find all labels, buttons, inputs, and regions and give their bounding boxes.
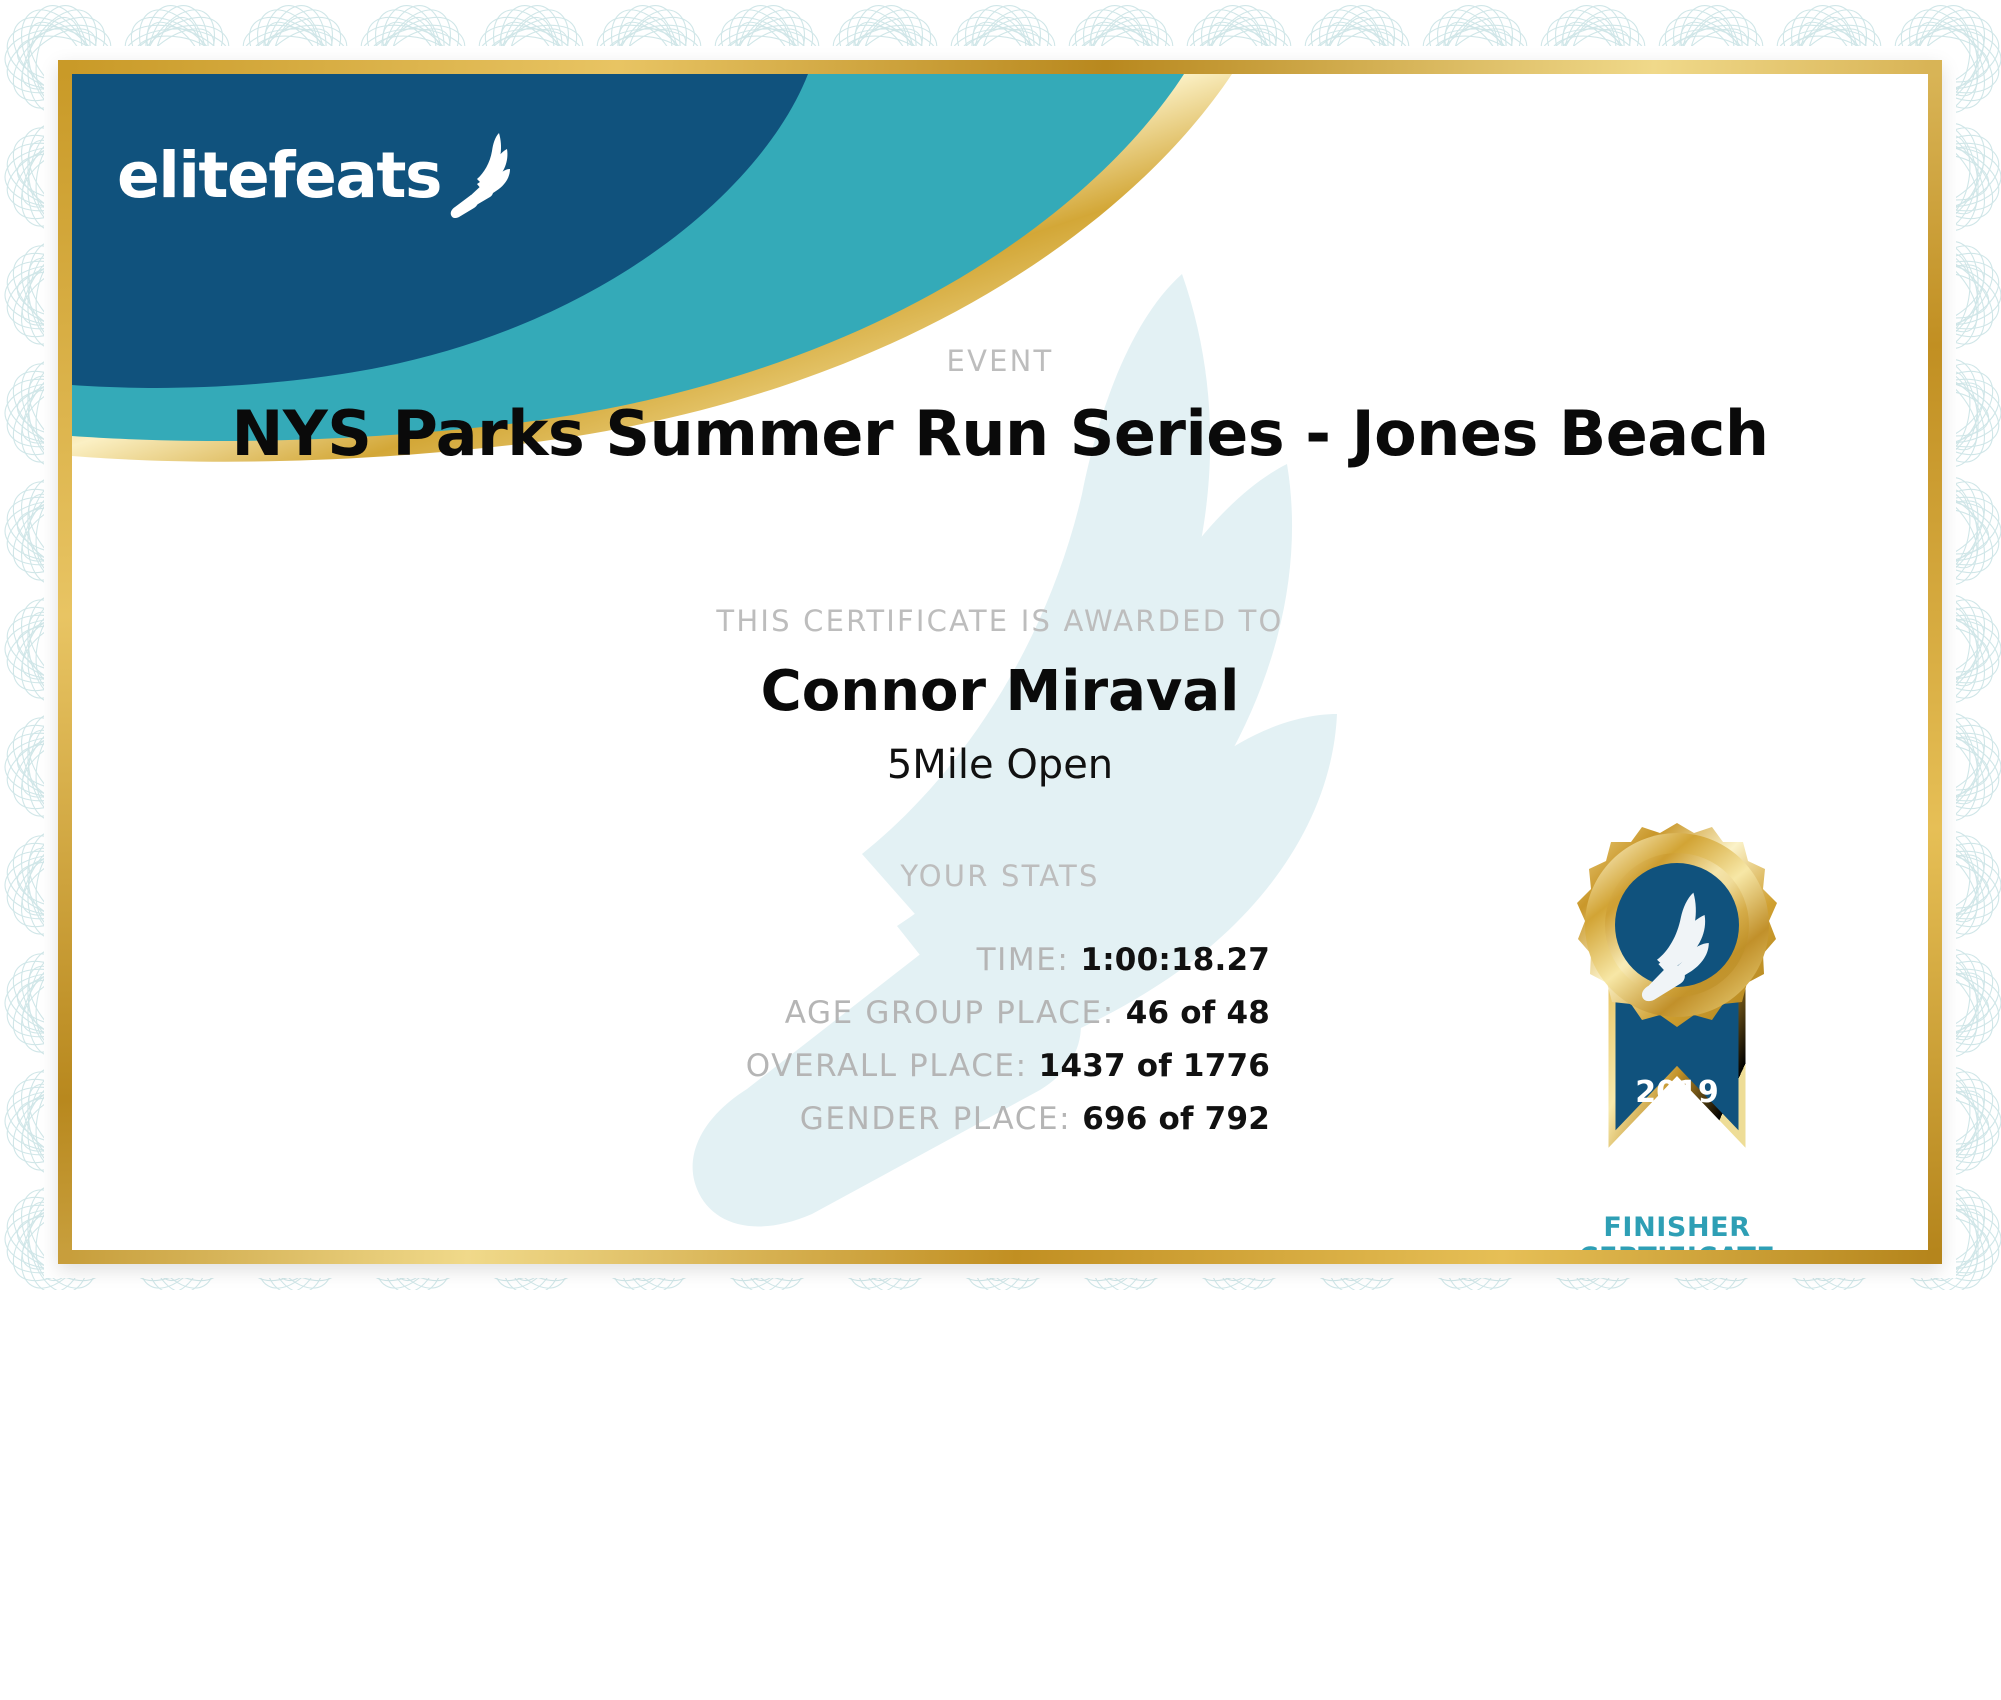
stat-row-gender-place: GENDER PLACE: 696 of 792 [72, 1101, 1270, 1137]
certificate-page: elitefeats EVENT N [0, 0, 2001, 1700]
recipient-name: Connor Miraval [72, 659, 1928, 724]
badge-caption-line1: FINISHER [1527, 1213, 1827, 1243]
stat-key: GENDER PLACE: [800, 1101, 1071, 1137]
stat-value: 1437 of 1776 [1039, 1048, 1270, 1084]
certificate-content: EVENT NYS Parks Summer Run Series - Jone… [72, 74, 1928, 1250]
stat-row-age-group-place: AGE GROUP PLACE: 46 of 48 [72, 995, 1270, 1031]
stat-row-overall-place: OVERALL PLACE: 1437 of 1776 [72, 1048, 1270, 1084]
stat-row-time: TIME: 1:00:18.27 [72, 942, 1270, 978]
event-title: NYS Parks Summer Run Series - Jones Beac… [72, 397, 1928, 470]
stat-key: AGE GROUP PLACE: [785, 995, 1115, 1031]
badge-caption: FINISHER CERTIFICATE [1527, 1213, 1827, 1264]
event-label: EVENT [72, 344, 1928, 378]
stat-value: 1:00:18.27 [1080, 942, 1270, 978]
division-name: 5Mile Open [72, 742, 1928, 788]
stats-list: TIME: 1:00:18.27 AGE GROUP PLACE: 46 of … [72, 942, 1270, 1154]
stat-key: OVERALL PLACE: [746, 1048, 1028, 1084]
awarded-to-label: THIS CERTIFICATE IS AWARDED TO [72, 604, 1928, 638]
badge-year: 2019 [1635, 1075, 1719, 1110]
certificate-gold-frame: elitefeats EVENT N [58, 60, 1942, 1264]
stat-value: 696 of 792 [1082, 1101, 1270, 1137]
stat-key: TIME: [977, 942, 1070, 978]
stat-value: 46 of 48 [1126, 995, 1270, 1031]
medal-ribbon-graphic: 2019 [1542, 819, 1812, 1209]
finisher-badge: 2019 FINISHER CERTIFICATE [1527, 819, 1827, 1264]
badge-caption-line2: CERTIFICATE [1527, 1243, 1827, 1264]
